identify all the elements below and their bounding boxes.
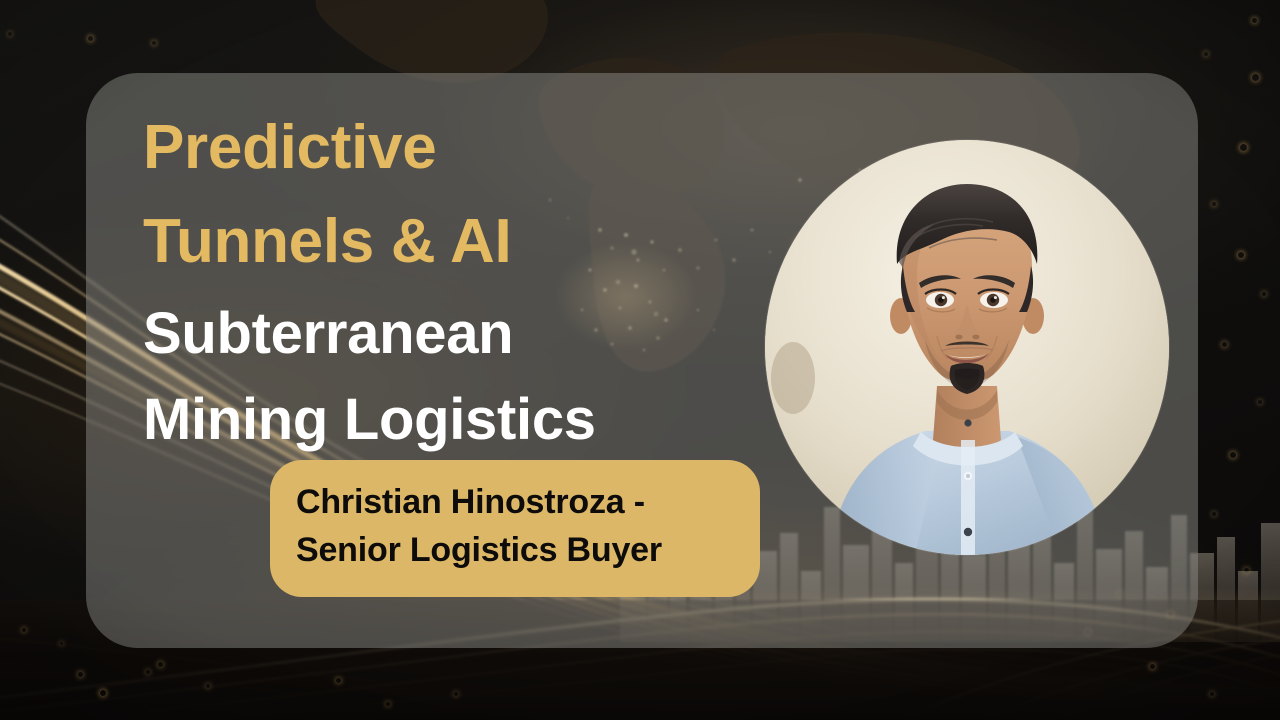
speaker-portrait: [765, 140, 1169, 555]
speaker-name-badge: Christian Hinostroza - Senior Logistics …: [270, 460, 760, 597]
slide-canvas: Predictive Tunnels & AI Subterranean Min…: [0, 0, 1280, 720]
title-block: Predictive Tunnels & AI Subterranean Min…: [143, 101, 783, 463]
page-title-gold: Predictive Tunnels & AI: [143, 101, 783, 289]
page-subtitle-white: Subterranean Mining Logistics: [143, 291, 783, 463]
glass-content-card: Predictive Tunnels & AI Subterranean Min…: [86, 73, 1198, 648]
